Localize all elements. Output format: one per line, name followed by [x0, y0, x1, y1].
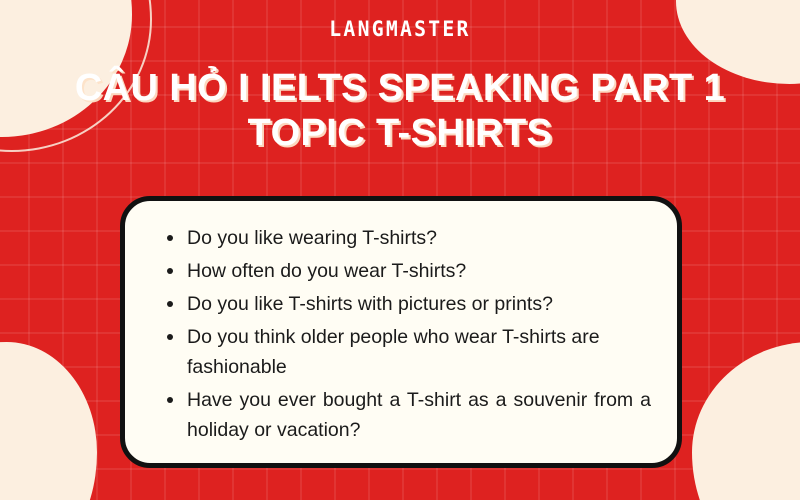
- cream-blob-bottom-right-icon: [692, 342, 800, 500]
- list-item: How often do you wear T-shirts?: [165, 256, 651, 286]
- page-title-line-1: CÂU HỎ I IELTS SPEAKING PART 1: [75, 67, 725, 109]
- question-text: Do you like wearing T-shirts?: [187, 227, 437, 249]
- questions-card: Do you like wearing T-shirts? How often …: [120, 196, 682, 468]
- list-item: Have you ever bought a T-shirt as a souv…: [165, 385, 651, 445]
- page-title-line-2: TOPIC T-SHIRTS: [0, 111, 800, 156]
- question-text: Do you think older people who wear T-shi…: [187, 326, 600, 378]
- poster-canvas: LANGMASTER CÂU HỎ I IELTS SPEAKING PART …: [0, 0, 800, 500]
- question-text: Do you like T-shirts with pictures or pr…: [187, 293, 553, 315]
- brand-logo-langmaster: LANGMASTER: [24, 17, 776, 41]
- page-title: CÂU HỎ I IELTS SPEAKING PART 1 TOPIC T-S…: [0, 66, 800, 156]
- question-text: Have you ever bought a T-shirt as a souv…: [187, 389, 651, 441]
- question-text: How often do you wear T-shirts?: [187, 260, 466, 282]
- list-item: Do you like T-shirts with pictures or pr…: [165, 289, 651, 319]
- questions-list: Do you like wearing T-shirts? How often …: [165, 223, 651, 445]
- list-item: Do you think older people who wear T-shi…: [165, 322, 651, 382]
- cream-blob-bottom-left-icon: [0, 342, 97, 500]
- list-item: Do you like wearing T-shirts?: [165, 223, 651, 253]
